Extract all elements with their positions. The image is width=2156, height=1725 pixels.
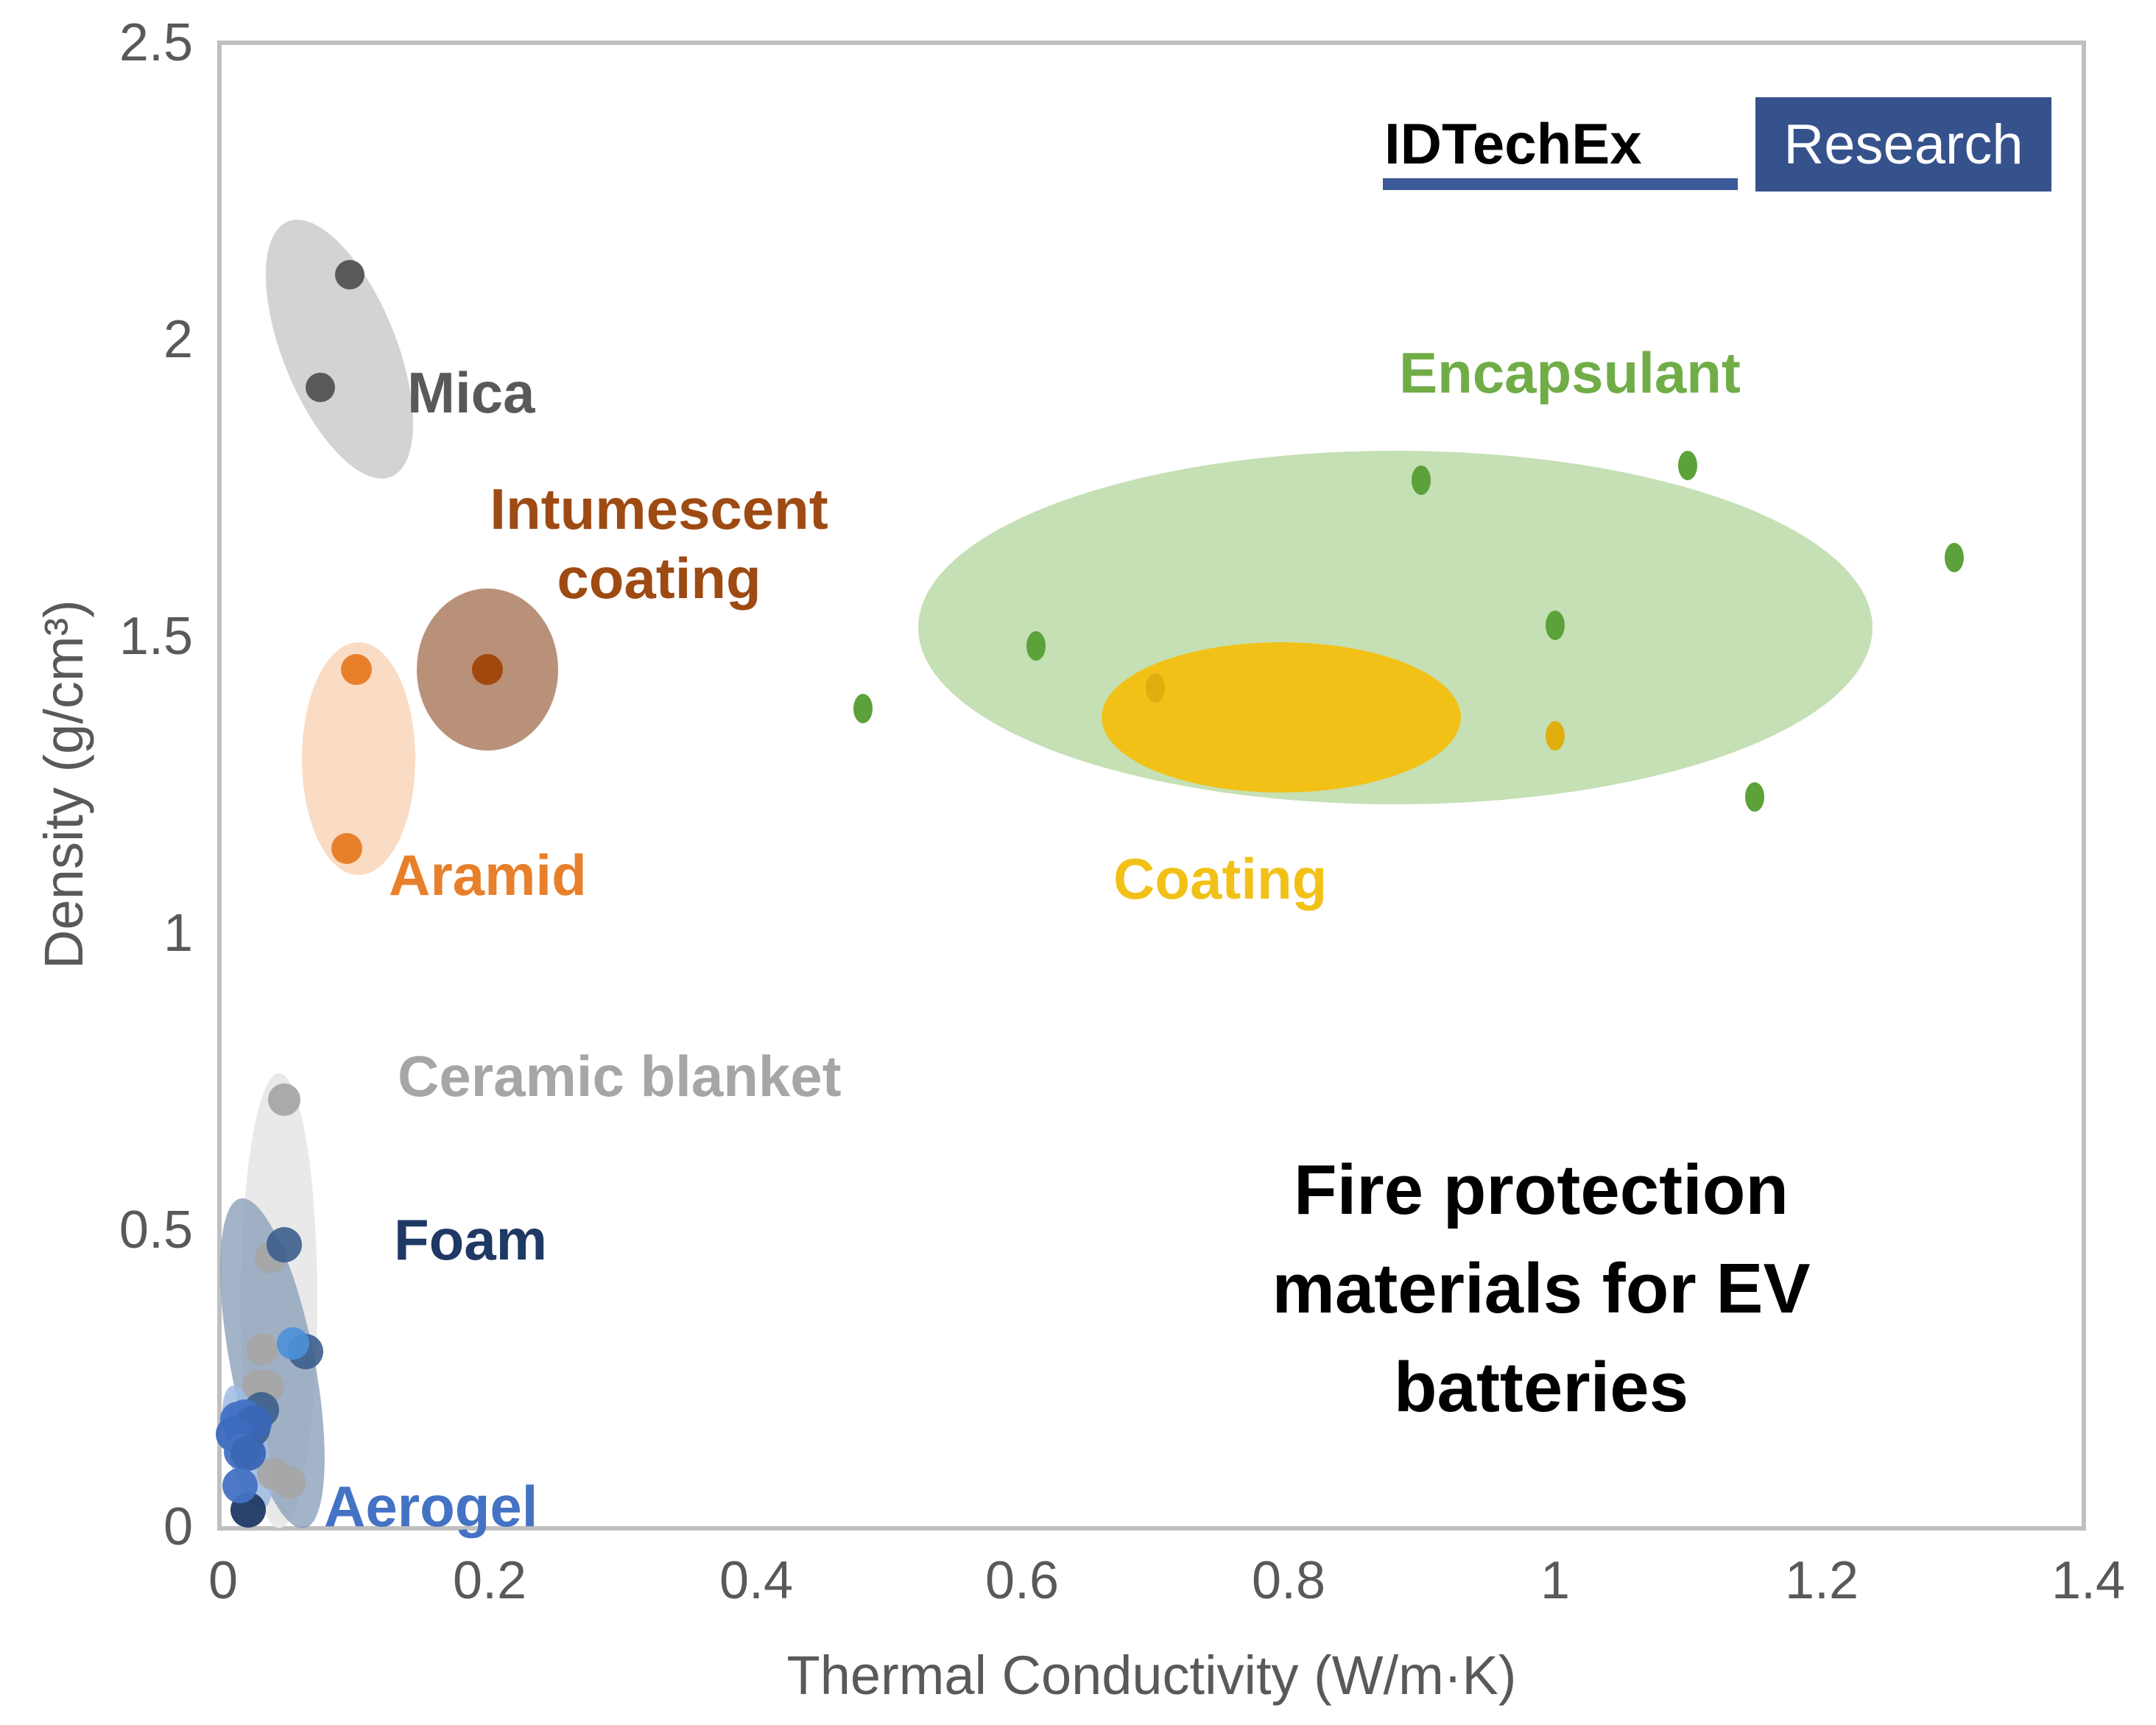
cluster-label-intumescent-coating-line1: Intumescent (490, 477, 828, 541)
data-point (306, 373, 335, 402)
logo-brand-text: IDTechEx (1384, 111, 1642, 176)
points-intumescent-coating (472, 654, 503, 685)
data-point (335, 260, 364, 289)
data-point (246, 1333, 278, 1366)
data-point (273, 1466, 306, 1499)
x-tick-label-0.8: 0.8 (1252, 1551, 1325, 1610)
x-tick-label-1.4: 1.4 (2051, 1551, 2125, 1610)
y-tick-label-2: 2 (163, 310, 193, 369)
cluster-label-mica: Mica (407, 360, 535, 425)
cluster-label-aramid: Aramid (389, 843, 587, 907)
data-point (277, 1327, 309, 1360)
cluster-label-foam: Foam (394, 1207, 547, 1272)
x-tick-label-0.4: 0.4 (719, 1551, 793, 1610)
y-tick-label-0: 0 (163, 1497, 193, 1556)
data-point (1546, 721, 1565, 751)
data-point (267, 1227, 302, 1262)
y-tick-label-2.5: 2.5 (119, 13, 193, 72)
y-axis: 2.5 2 1.5 1 0.5 0 Density (g/cm³) (33, 13, 193, 1556)
y-tick-label-0.5: 0.5 (119, 1201, 193, 1260)
data-point (268, 1083, 300, 1116)
data-point (1546, 611, 1565, 640)
data-point (331, 833, 362, 864)
x-tick-label-0.2: 0.2 (453, 1551, 526, 1610)
x-tick-label-0.6: 0.6 (985, 1551, 1059, 1610)
cluster-label-coating: Coating (1113, 846, 1327, 911)
cluster-label-aerogel: Aerogel (324, 1474, 538, 1539)
y-tick-label-1.5: 1.5 (119, 607, 193, 666)
data-point (1026, 631, 1046, 661)
data-point (341, 654, 372, 685)
data-point (1945, 543, 1964, 572)
x-tick-label-1.2: 1.2 (1785, 1551, 1859, 1610)
x-axis: 0 0.2 0.4 0.6 0.8 1 1.2 1.4 Thermal Cond… (208, 1551, 2125, 1706)
data-point (853, 694, 873, 723)
cluster-label-ceramic-blanket: Ceramic blanket (398, 1044, 842, 1109)
cluster-label-intumescent-coating-line2: coating (557, 546, 761, 611)
logo-brand-underline (1383, 178, 1738, 190)
x-axis-title: Thermal Conductivity (W/m·K) (787, 1645, 1517, 1706)
ellipse-coating (1102, 642, 1461, 793)
logo-product-text: Research (1783, 113, 2023, 176)
data-point (1745, 782, 1764, 812)
x-tick-label-0: 0 (208, 1551, 238, 1610)
x-tick-label-1: 1 (1540, 1551, 1570, 1610)
chart-title-line1: Fire protection (1294, 1150, 1789, 1229)
chart-title-line3: batteries (1394, 1348, 1688, 1427)
chart-container: 2.5 2 1.5 1 0.5 0 Density (g/cm³) 0 0.2 … (0, 0, 2156, 1725)
data-point (230, 1436, 266, 1471)
data-point (1412, 465, 1431, 495)
scatter-chart: 2.5 2 1.5 1 0.5 0 Density (g/cm³) 0 0.2 … (0, 0, 2156, 1725)
chart-title-line2: materials for EV (1272, 1249, 1811, 1328)
data-point (472, 654, 503, 685)
data-point (222, 1468, 258, 1503)
cluster-label-encapsulant: Encapsulant (1399, 340, 1741, 405)
y-tick-label-1: 1 (163, 904, 193, 963)
data-point (1678, 451, 1697, 480)
data-point (1146, 673, 1165, 703)
y-axis-title: Density (g/cm³) (33, 600, 94, 969)
